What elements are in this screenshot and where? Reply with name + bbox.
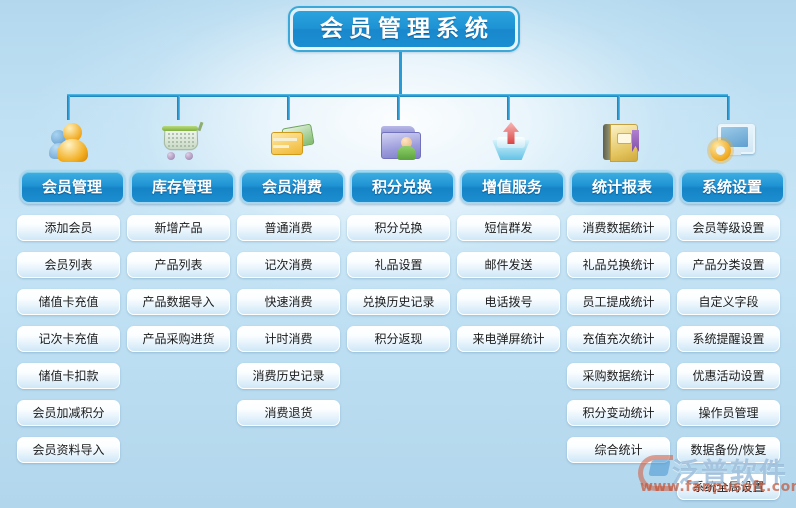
menu-item-label: 产品数据导入	[142, 296, 214, 308]
menu-list-member-consumption: 普通消费记次消费快速消费计时消费消费历史记录消费退货	[237, 215, 347, 426]
menu-item[interactable]: 记次卡充值	[17, 326, 120, 352]
menu-item[interactable]: 邮件发送	[457, 252, 560, 278]
menu-item-label: 邮件发送	[484, 259, 532, 271]
menu-item-label: 产品采购进货	[142, 333, 214, 345]
menu-item[interactable]: 计时消费	[237, 326, 340, 352]
upload-arrow-icon	[457, 110, 567, 164]
menu-item-label: 自定义字段	[698, 296, 758, 308]
connector-stem	[399, 52, 402, 96]
menu-item[interactable]: 积分兑换	[347, 215, 450, 241]
menu-item[interactable]: 产品列表	[127, 252, 230, 278]
menu-item[interactable]: 系统全局设置	[677, 474, 780, 500]
menu-item-label: 礼品兑换统计	[582, 259, 654, 271]
category-button-label: 会员管理	[42, 180, 102, 195]
title-plate: 会员管理系统	[293, 11, 515, 47]
category-button-label: 增值服务	[482, 180, 542, 195]
menu-item[interactable]: 礼品设置	[347, 252, 450, 278]
menu-item-label: 积分变动统计	[582, 407, 654, 419]
menu-item[interactable]: 产品数据导入	[127, 289, 230, 315]
menu-list-member-management: 添加会员会员列表储值卡充值记次卡充值储值卡扣款会员加减积分会员资料导入	[17, 215, 127, 463]
menu-item[interactable]: 电话拨号	[457, 289, 560, 315]
menu-item[interactable]: 自定义字段	[677, 289, 780, 315]
menu-item[interactable]: 会员资料导入	[17, 437, 120, 463]
menu-item[interactable]: 系统提醒设置	[677, 326, 780, 352]
column-member-consumption: 会员消费普通消费记次消费快速消费计时消费消费历史记录消费退货	[237, 110, 347, 437]
menu-item-label: 员工提成统计	[582, 296, 654, 308]
menu-item[interactable]: 产品采购进货	[127, 326, 230, 352]
menu-item[interactable]: 积分变动统计	[567, 400, 670, 426]
category-button-member-consumption[interactable]: 会员消费	[240, 170, 345, 204]
menu-item-label: 消费数据统计	[582, 222, 654, 234]
menu-item[interactable]: 优惠活动设置	[677, 363, 780, 389]
menu-item[interactable]: 记次消费	[237, 252, 340, 278]
menu-item[interactable]: 新增产品	[127, 215, 230, 241]
menu-list-system-settings: 会员等级设置产品分类设置自定义字段系统提醒设置优惠活动设置操作员管理数据备份/恢…	[677, 215, 787, 500]
menu-item[interactable]: 储值卡充值	[17, 289, 120, 315]
menu-item-label: 兑换历史记录	[362, 296, 434, 308]
menu-item-label: 储值卡充值	[38, 296, 98, 308]
menu-item-label: 充值充次统计	[582, 333, 654, 345]
menu-item-label: 积分返现	[374, 333, 422, 345]
menu-list-value-added-services: 短信群发邮件发送电话拨号来电弹屏统计	[457, 215, 567, 352]
menu-item-label: 综合统计	[594, 444, 642, 456]
column-member-management: 会员管理添加会员会员列表储值卡充值记次卡充值储值卡扣款会员加减积分会员资料导入	[17, 110, 127, 474]
menu-item[interactable]: 储值卡扣款	[17, 363, 120, 389]
menu-item-label: 消费退货	[264, 407, 312, 419]
menu-item-label: 会员加减积分	[32, 407, 104, 419]
menu-item[interactable]: 充值充次统计	[567, 326, 670, 352]
menu-item[interactable]: 会员等级设置	[677, 215, 780, 241]
category-button-label: 统计报表	[592, 180, 652, 195]
menu-item-label: 消费历史记录	[252, 370, 324, 382]
menu-item-label: 积分兑换	[374, 222, 422, 234]
menu-item[interactable]: 消费数据统计	[567, 215, 670, 241]
menu-item[interactable]: 综合统计	[567, 437, 670, 463]
menu-item-label: 操作员管理	[698, 407, 758, 419]
menu-item-label: 采购数据统计	[582, 370, 654, 382]
menu-item[interactable]: 数据备份/恢复	[677, 437, 780, 463]
category-button-system-settings[interactable]: 系统设置	[680, 170, 785, 204]
menu-item[interactable]: 短信群发	[457, 215, 560, 241]
menu-item-label: 产品列表	[154, 259, 202, 271]
menu-item-label: 新增产品	[154, 222, 202, 234]
page-title-label: 会员管理系统	[314, 18, 494, 41]
menu-item-label: 记次消费	[264, 259, 312, 271]
menu-list-inventory-management: 新增产品产品列表产品数据导入产品采购进货	[127, 215, 237, 352]
menu-item[interactable]: 产品分类设置	[677, 252, 780, 278]
menu-item-label: 储值卡扣款	[38, 370, 98, 382]
menu-item-label: 系统全局设置	[692, 481, 764, 493]
menu-item[interactable]: 添加会员	[17, 215, 120, 241]
category-button-label: 系统设置	[702, 180, 762, 195]
menu-item-label: 优惠活动设置	[692, 370, 764, 382]
users-icon	[17, 110, 127, 164]
category-button-label: 库存管理	[152, 180, 212, 195]
menu-item[interactable]: 员工提成统计	[567, 289, 670, 315]
menu-item[interactable]: 消费历史记录	[237, 363, 340, 389]
category-button-member-management[interactable]: 会员管理	[20, 170, 125, 204]
column-points-exchange: 积分兑换积分兑换礼品设置兑换历史记录积分返现	[347, 110, 457, 363]
menu-item-label: 普通消费	[264, 222, 312, 234]
book-icon	[567, 110, 677, 164]
menu-item-label: 记次卡充值	[38, 333, 98, 345]
menu-item-label: 来电弹屏统计	[472, 333, 544, 345]
folder-user-icon	[347, 110, 457, 164]
menu-item[interactable]: 来电弹屏统计	[457, 326, 560, 352]
menu-list-points-exchange: 积分兑换礼品设置兑换历史记录积分返现	[347, 215, 457, 352]
menu-item-label: 礼品设置	[374, 259, 422, 271]
column-value-added-services: 增值服务短信群发邮件发送电话拨号来电弹屏统计	[457, 110, 567, 363]
menu-item-label: 会员列表	[44, 259, 92, 271]
category-button-label: 积分兑换	[372, 180, 432, 195]
shopping-cart-icon	[127, 110, 237, 164]
menu-item[interactable]: 兑换历史记录	[347, 289, 450, 315]
monitor-gear-icon	[677, 110, 787, 164]
menu-item[interactable]: 会员列表	[17, 252, 120, 278]
menu-item[interactable]: 采购数据统计	[567, 363, 670, 389]
column-system-settings: 系统设置会员等级设置产品分类设置自定义字段系统提醒设置优惠活动设置操作员管理数据…	[677, 110, 787, 508]
menu-list-statistical-reports: 消费数据统计礼品兑换统计员工提成统计充值充次统计采购数据统计积分变动统计综合统计	[567, 215, 677, 463]
category-button-label: 会员消费	[262, 180, 322, 195]
category-button-value-added-services[interactable]: 增值服务	[460, 170, 565, 204]
menu-item[interactable]: 消费退货	[237, 400, 340, 426]
category-button-points-exchange[interactable]: 积分兑换	[350, 170, 455, 204]
menu-item-label: 计时消费	[264, 333, 312, 345]
category-button-inventory-management[interactable]: 库存管理	[130, 170, 235, 204]
column-inventory-management: 库存管理新增产品产品列表产品数据导入产品采购进货	[127, 110, 237, 363]
column-statistical-reports: 统计报表消费数据统计礼品兑换统计员工提成统计充值充次统计采购数据统计积分变动统计…	[567, 110, 677, 474]
menu-item[interactable]: 操作员管理	[677, 400, 780, 426]
menu-item-label: 系统提醒设置	[692, 333, 764, 345]
menu-item-label: 添加会员	[44, 222, 92, 234]
menu-item[interactable]: 积分返现	[347, 326, 450, 352]
menu-item-label: 产品分类设置	[692, 259, 764, 271]
menu-item-label: 快速消费	[264, 296, 312, 308]
menu-item[interactable]: 会员加减积分	[17, 400, 120, 426]
menu-item-label: 短信群发	[484, 222, 532, 234]
menu-item[interactable]: 快速消费	[237, 289, 340, 315]
category-button-statistical-reports[interactable]: 统计报表	[570, 170, 675, 204]
menu-item-label: 数据备份/恢复	[690, 444, 766, 456]
menu-item[interactable]: 礼品兑换统计	[567, 252, 670, 278]
menu-item-label: 会员等级设置	[692, 222, 764, 234]
app-root: 会员管理系统 会员管理添加会员会员列表储值卡充值记次卡充值储值卡扣款会员加减积分…	[0, 0, 796, 508]
menu-item-label: 会员资料导入	[32, 444, 104, 456]
menu-item-label: 电话拨号	[484, 296, 532, 308]
menu-item[interactable]: 普通消费	[237, 215, 340, 241]
credit-cards-icon	[237, 110, 347, 164]
page-title: 会员管理系统	[288, 6, 520, 52]
